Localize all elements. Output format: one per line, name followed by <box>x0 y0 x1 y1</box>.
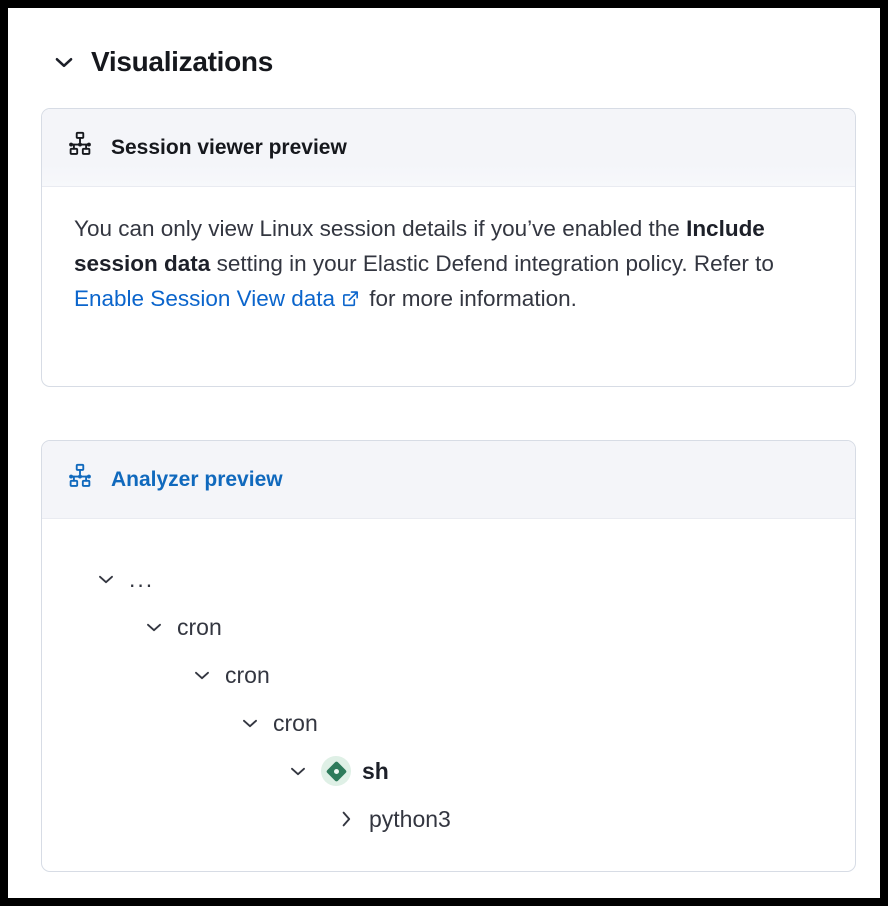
tree-row[interactable]: sh <box>42 747 855 795</box>
visualizations-section-header[interactable]: Visualizations <box>8 8 880 86</box>
chevron-down-icon[interactable] <box>238 711 262 735</box>
tree-node-label: sh <box>362 760 389 783</box>
description-part-3: for more information. <box>363 286 577 311</box>
external-link-icon <box>341 284 360 319</box>
chevron-down-icon[interactable] <box>190 663 214 687</box>
process-running-badge <box>321 756 351 786</box>
analyzer-preview-panel: Analyzer preview ...croncroncronshpython… <box>41 440 856 872</box>
process-tree: ...croncroncronshpython3 <box>42 519 855 843</box>
description-part-1: You can only view Linux session details … <box>74 216 686 241</box>
enable-session-view-data-link[interactable]: Enable Session View data <box>74 286 363 311</box>
analyzer-graph-icon <box>65 462 95 497</box>
tree-row[interactable]: cron <box>42 699 855 747</box>
chevron-down-icon[interactable] <box>94 567 118 591</box>
tree-node-label: ... <box>129 568 154 591</box>
chevron-down-icon[interactable] <box>142 615 166 639</box>
tree-row[interactable]: cron <box>42 603 855 651</box>
analyzer-graph-icon <box>65 130 95 165</box>
session-viewer-preview-panel: Session viewer preview You can only view… <box>41 108 856 387</box>
tree-node-label: cron <box>177 616 222 639</box>
session-data-description: You can only view Linux session details … <box>74 212 831 319</box>
chevron-down-icon[interactable] <box>51 49 77 75</box>
session-viewer-preview-header[interactable]: Session viewer preview <box>42 109 855 187</box>
chevron-right-icon[interactable] <box>334 807 358 831</box>
session-viewer-preview-title: Session viewer preview <box>111 137 347 158</box>
page-title: Visualizations <box>91 48 273 76</box>
tree-node-label: cron <box>273 712 318 735</box>
tree-row[interactable]: ... <box>42 555 855 603</box>
tree-node-label: python3 <box>369 808 451 831</box>
link-label: Enable Session View data <box>74 286 335 311</box>
analyzer-preview-title-link[interactable]: Analyzer preview <box>111 469 283 490</box>
description-part-2: setting in your Elastic Defend integrati… <box>210 251 774 276</box>
chevron-down-icon[interactable] <box>286 759 310 783</box>
analyzer-preview-header[interactable]: Analyzer preview <box>42 441 855 519</box>
tree-node-label: cron <box>225 664 270 687</box>
screenshot-root: Visualizations Session viewer previe <box>8 8 880 898</box>
tree-row[interactable]: cron <box>42 651 855 699</box>
session-viewer-preview-body: You can only view Linux session details … <box>42 187 855 319</box>
tree-row[interactable]: python3 <box>42 795 855 843</box>
